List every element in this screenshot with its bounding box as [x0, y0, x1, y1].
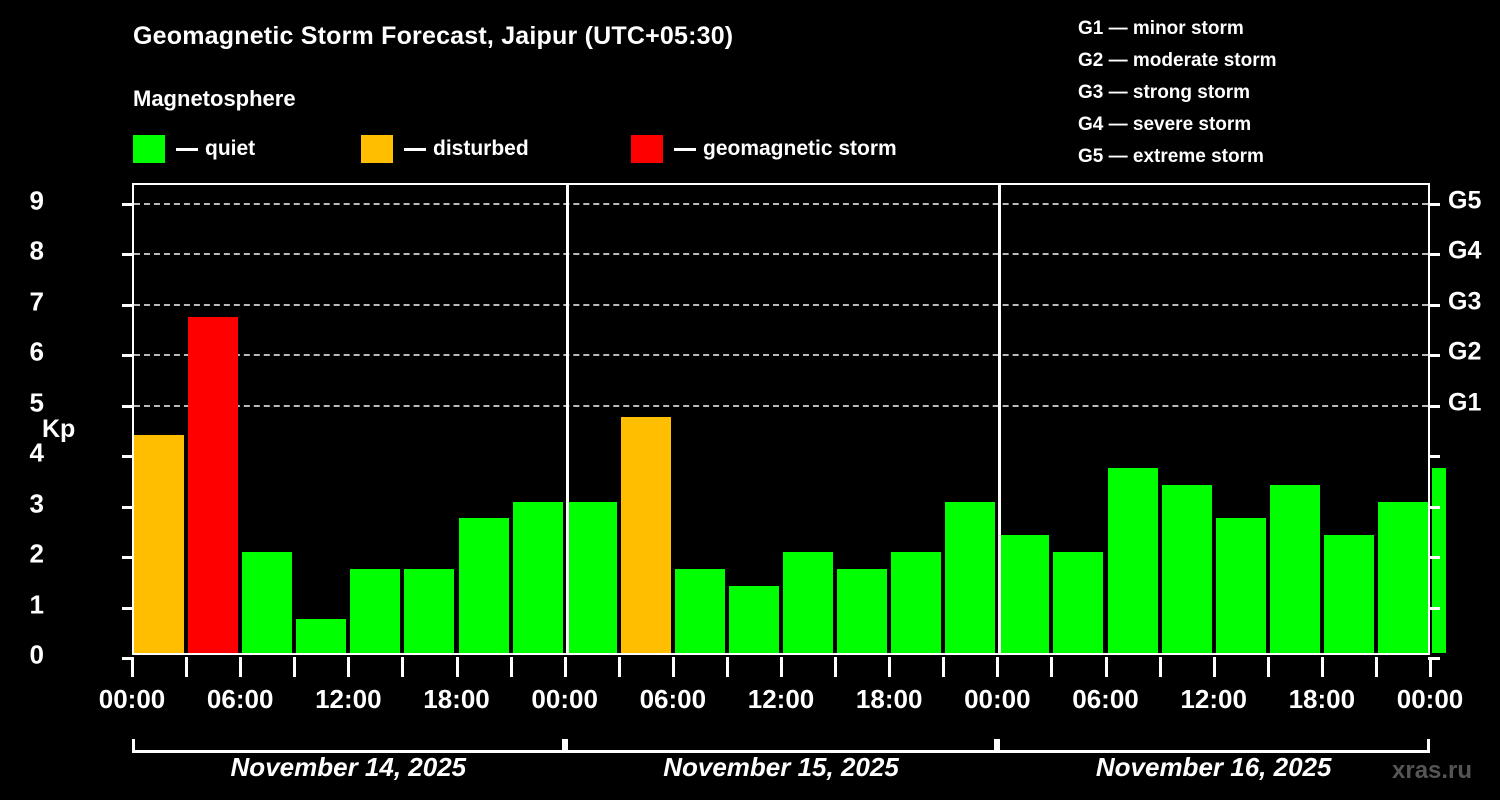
- x-tick-20: [1213, 657, 1216, 677]
- bar-day1-2100: [945, 502, 995, 653]
- y-axis-label-1: 1: [30, 589, 44, 620]
- g-axis-label-g1: G1: [1448, 388, 1481, 417]
- x-tick-0: [131, 657, 134, 677]
- gridline-kp-7: [134, 304, 1428, 306]
- y-tick-right-7: [1428, 304, 1440, 307]
- g-axis-label-g4: G4: [1448, 237, 1481, 266]
- x-tick-21: [1267, 657, 1270, 677]
- y-tick-right-3: [1428, 506, 1440, 509]
- x-tick-19: [1159, 657, 1162, 677]
- x-axis-label-2: 06:00: [207, 684, 274, 715]
- y-tick-9: [122, 203, 134, 206]
- y-tick-right-8: [1428, 253, 1440, 256]
- x-tick-14: [888, 657, 891, 677]
- x-axis-label-24: 00:00: [1397, 684, 1464, 715]
- x-tick-9: [618, 657, 621, 677]
- day-separator-1: [566, 185, 569, 653]
- x-tick-1: [185, 657, 188, 677]
- y-axis-label-0: 0: [30, 640, 44, 671]
- y-axis-label-2: 2: [30, 539, 44, 570]
- day-separator-2: [998, 185, 1001, 653]
- gridline-kp-8: [134, 253, 1428, 255]
- bar-day1-0300: [621, 417, 671, 653]
- y-tick-4: [122, 455, 134, 458]
- x-tick-5: [401, 657, 404, 677]
- legend-label: geomagnetic storm: [703, 137, 897, 161]
- day-bracket-0: [132, 739, 565, 753]
- page-title: Geomagnetic Storm Forecast, Jaipur (UTC+…: [133, 22, 733, 51]
- bar-day2-0600: [1108, 468, 1158, 653]
- day-label-0: November 14, 2025: [231, 752, 467, 783]
- y-axis-label-5: 5: [30, 387, 44, 418]
- y-tick-8: [122, 253, 134, 256]
- gridline-kp-5: [134, 405, 1428, 407]
- bar-day2-0300: [1053, 552, 1103, 653]
- x-tick-13: [834, 657, 837, 677]
- x-axis-label-20: 12:00: [1180, 684, 1247, 715]
- watermark: xras.ru: [1392, 757, 1472, 785]
- x-tick-17: [1050, 657, 1053, 677]
- bar-day2-1200: [1216, 518, 1266, 653]
- bar-day0-1200: [350, 569, 400, 653]
- y-axis-label-8: 8: [30, 236, 44, 267]
- g-scale-g3: G3 — strong storm: [1078, 77, 1277, 109]
- bar-day2-0000: [999, 535, 1049, 653]
- bar-day0-0300: [188, 317, 238, 653]
- x-tick-4: [347, 657, 350, 677]
- x-axis-label-0: 00:00: [99, 684, 166, 715]
- bar-day1-1200: [783, 552, 833, 653]
- bar-day0-0600: [242, 552, 292, 653]
- y-tick-right-9: [1428, 203, 1440, 206]
- y-tick-1: [122, 607, 134, 610]
- day-label-1: November 15, 2025: [663, 752, 899, 783]
- y-axis-title: Kp: [42, 415, 75, 444]
- x-tick-22: [1321, 657, 1324, 677]
- bar-day2-2100: [1378, 502, 1428, 653]
- bar-day0-2100: [513, 502, 563, 653]
- y-axis-label-4: 4: [30, 438, 44, 469]
- g-scale-g2: G2 — moderate storm: [1078, 45, 1277, 77]
- g-axis-label-g5: G5: [1448, 187, 1481, 216]
- plot-area: [132, 183, 1430, 655]
- y-axis-label-3: 3: [30, 488, 44, 519]
- magnetosphere-label: Magnetosphere: [133, 86, 296, 112]
- x-tick-2: [239, 657, 242, 677]
- y-axis-label-7: 7: [30, 286, 44, 317]
- y-tick-6: [122, 354, 134, 357]
- bar-day1-1500: [837, 569, 887, 653]
- legend-label: disturbed: [433, 137, 529, 161]
- gridline-kp-6: [134, 354, 1428, 356]
- g-scale-g1: G1 — minor storm: [1078, 13, 1277, 45]
- legend-dash-icon: [176, 148, 198, 151]
- g-scale-g5: G5 — extreme storm: [1078, 141, 1277, 173]
- disturbed-swatch: [361, 135, 393, 163]
- y-tick-right-4: [1428, 455, 1440, 458]
- y-tick-right-2: [1428, 556, 1440, 559]
- legend-dash-icon: [404, 148, 426, 151]
- g-scale-legend: G1 — minor stormG2 — moderate stormG3 — …: [1078, 13, 1277, 173]
- day-bracket-2: [997, 739, 1430, 753]
- y-axis-label-9: 9: [30, 186, 44, 217]
- x-tick-18: [1105, 657, 1108, 677]
- bar-day1-0900: [729, 586, 779, 653]
- legend-item-geomagnetic-storm: geomagnetic storm: [631, 133, 897, 165]
- legend-item-quiet: quiet: [133, 133, 255, 165]
- y-tick-5: [122, 405, 134, 408]
- bar-day2-0900: [1162, 485, 1212, 653]
- bar-day1-1800: [891, 552, 941, 653]
- x-tick-3: [293, 657, 296, 677]
- y-tick-7: [122, 304, 134, 307]
- g-scale-g4: G4 — severe storm: [1078, 109, 1277, 141]
- day-bracket-1: [565, 739, 998, 753]
- bar-day0-1500: [404, 569, 454, 653]
- legend-dash-icon: [674, 148, 696, 151]
- bar-day2-2400: [1432, 468, 1446, 653]
- legend-item-disturbed: disturbed: [361, 133, 529, 165]
- x-tick-16: [996, 657, 999, 677]
- x-axis-label-16: 00:00: [964, 684, 1031, 715]
- x-axis-label-10: 06:00: [640, 684, 707, 715]
- y-tick-right-5: [1428, 405, 1440, 408]
- gridline-kp-9: [134, 203, 1428, 205]
- x-axis-label-8: 00:00: [531, 684, 598, 715]
- x-tick-23: [1375, 657, 1378, 677]
- y-tick-3: [122, 506, 134, 509]
- x-axis-label-12: 12:00: [748, 684, 815, 715]
- bar-day2-1500: [1270, 485, 1320, 653]
- day-label-2: November 16, 2025: [1096, 752, 1332, 783]
- bar-day2-1800: [1324, 535, 1374, 653]
- chart-page: Geomagnetic Storm Forecast, Jaipur (UTC+…: [0, 0, 1500, 800]
- x-tick-12: [780, 657, 783, 677]
- g-axis-label-g2: G2: [1448, 338, 1481, 367]
- x-axis-label-14: 18:00: [856, 684, 923, 715]
- x-tick-24: [1429, 657, 1432, 677]
- bar-day0-0900: [296, 619, 346, 653]
- x-tick-11: [726, 657, 729, 677]
- storm-swatch: [631, 135, 663, 163]
- x-tick-15: [942, 657, 945, 677]
- x-tick-8: [564, 657, 567, 677]
- g-axis-label-g3: G3: [1448, 287, 1481, 316]
- y-tick-2: [122, 556, 134, 559]
- x-axis-label-4: 12:00: [315, 684, 382, 715]
- x-axis-label-6: 18:00: [423, 684, 490, 715]
- bar-day0-1800: [459, 518, 509, 653]
- x-axis-label-18: 06:00: [1072, 684, 1139, 715]
- x-axis-label-22: 18:00: [1289, 684, 1356, 715]
- y-axis-label-6: 6: [30, 337, 44, 368]
- x-tick-7: [510, 657, 513, 677]
- x-tick-6: [456, 657, 459, 677]
- y-tick-right-6: [1428, 354, 1440, 357]
- bar-day1-0000: [567, 502, 617, 653]
- bar-day1-0600: [675, 569, 725, 653]
- quiet-swatch: [133, 135, 165, 163]
- y-tick-right-1: [1428, 607, 1440, 610]
- legend-label: quiet: [205, 137, 255, 161]
- x-tick-10: [672, 657, 675, 677]
- bar-day0-0000: [134, 435, 184, 653]
